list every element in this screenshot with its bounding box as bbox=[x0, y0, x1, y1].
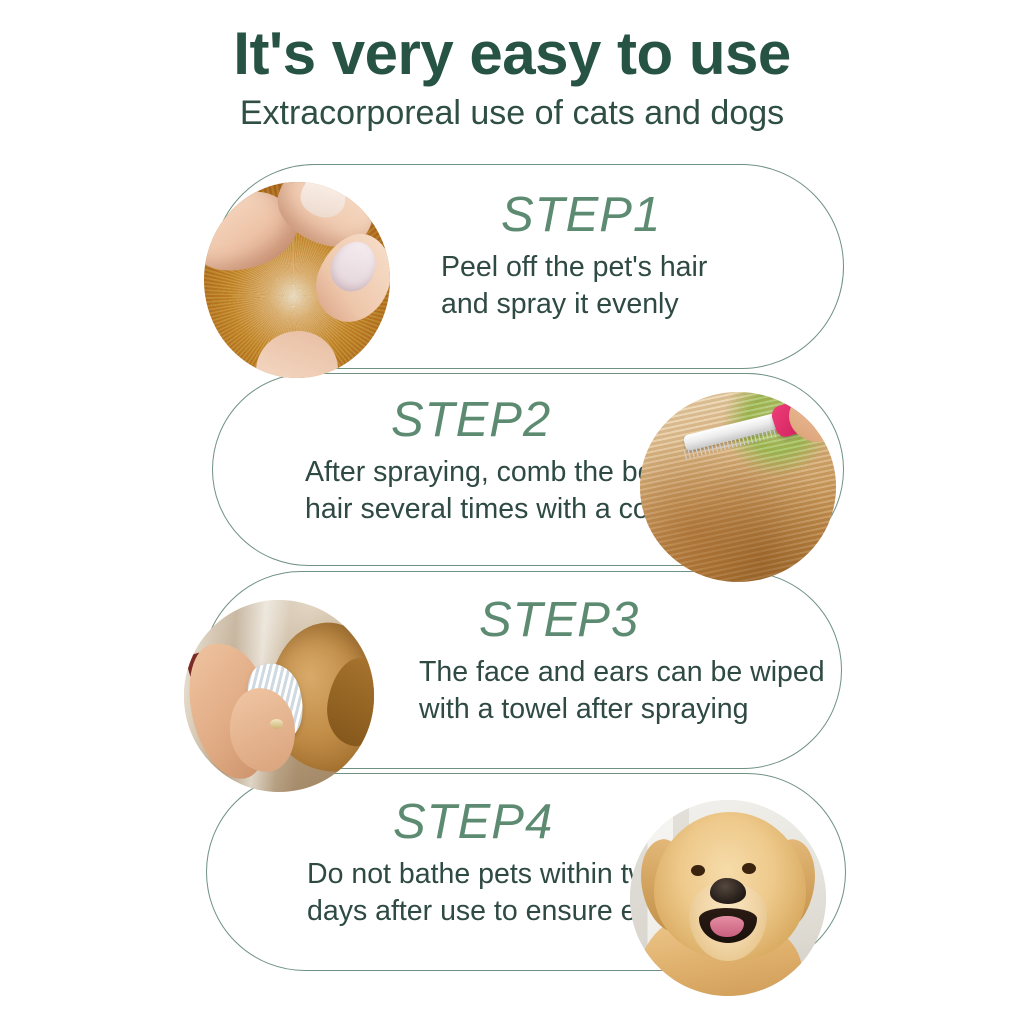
step-1-text: STEP1 Peel off the pet's hair and spray … bbox=[441, 191, 707, 322]
step-1-description-line-2: and spray it evenly bbox=[441, 286, 707, 322]
step-2-description: After spraying, comb the body hair sever… bbox=[305, 454, 688, 527]
step-1-label: STEP1 bbox=[501, 191, 707, 240]
step-1-description: Peel off the pet's hair and spray it eve… bbox=[441, 249, 707, 322]
step-1-description-line-1: Peel off the pet's hair bbox=[441, 249, 707, 285]
page-subtitle: Extracorporeal use of cats and dogs bbox=[0, 95, 1024, 132]
finger-ring bbox=[270, 719, 283, 729]
step-1-photo bbox=[204, 182, 390, 378]
step-3-description-line-1: The face and ears can be wiped bbox=[419, 654, 825, 690]
step-3-text: STEP3 The face and ears can be wiped wit… bbox=[419, 596, 825, 727]
step-2-description-line-2: hair several times with a comb bbox=[305, 491, 688, 527]
step-3-photo bbox=[184, 600, 374, 792]
step-3-description: The face and ears can be wiped with a to… bbox=[419, 654, 825, 727]
step-3-description-line-2: with a towel after spraying bbox=[419, 691, 825, 727]
step-2-description-line-1: After spraying, comb the body bbox=[305, 454, 688, 490]
step-4-photo bbox=[630, 800, 826, 996]
step-2-text: STEP2 After spraying, comb the body hair… bbox=[305, 396, 688, 527]
infographic-page: It's very easy to use Extracorporeal use… bbox=[0, 0, 1024, 1024]
dog-nose bbox=[710, 878, 745, 903]
header: It's very easy to use Extracorporeal use… bbox=[0, 0, 1024, 132]
page-title: It's very easy to use bbox=[0, 22, 1024, 87]
step-2-photo bbox=[640, 392, 836, 582]
step-3-label: STEP3 bbox=[479, 596, 825, 645]
